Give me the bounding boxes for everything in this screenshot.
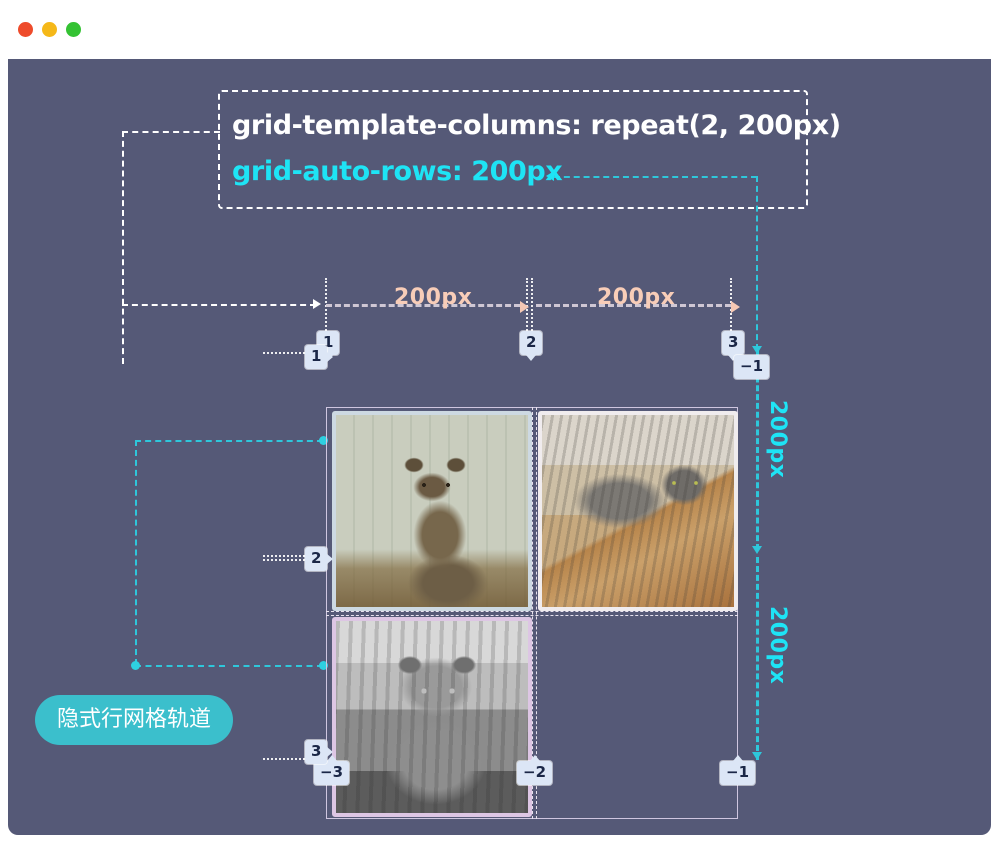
grid-line-badge-col-neg-3[interactable]: −3 [314,761,349,785]
grid-line-badge-col-2[interactable]: 2 [520,331,542,355]
grid-line-badge-row-neg-1[interactable]: −1 [734,355,769,379]
grid-line-badge-col-neg-2[interactable]: −2 [517,761,552,785]
grid-line-badge-col-neg-1[interactable]: −1 [720,761,755,785]
row-measure-2-arrow [752,752,762,760]
grid-line-badge-col-3[interactable]: 3 [722,331,744,355]
pill-connector-right [233,665,323,667]
column-measure-2-label: 200px [597,285,675,310]
connector-columns-bottom [122,304,316,306]
maximize-button[interactable] [66,22,81,37]
connector-columns-vertical [122,131,124,364]
css-code-callout: grid-template-columns: repeat(2, 200px) … [218,90,808,209]
connector-columns-arrowhead [313,299,321,309]
pill-connector-vertical [135,440,137,665]
connector-columns-top [122,131,220,133]
app-window: grid-template-columns: repeat(2, 200px) … [0,0,999,843]
pill-connector-top [135,440,323,442]
minimize-button[interactable] [42,22,57,37]
css-rule-grid-template-columns: grid-template-columns: repeat(2, 200px) [232,103,794,149]
cat-photo-3 [336,621,528,813]
grid-cell-empty [538,617,738,817]
grid-line-badge-row-2[interactable]: 2 [305,547,327,571]
row-measure-1 [756,350,759,550]
pill-anchor-dot-left [131,661,140,670]
grid-item-3[interactable] [332,617,532,817]
grid-track-line-row-2 [326,611,738,612]
css-rule-grid-auto-rows: grid-auto-rows: 200px [232,149,794,195]
row-measure-1-label: 200px [765,400,790,478]
illustration-canvas: grid-template-columns: repeat(2, 200px) … [8,59,991,835]
grid-item-2[interactable] [538,411,738,611]
row-measure-2 [756,557,759,760]
window-titlebar [0,0,999,59]
column-measure-1-label: 200px [394,285,472,310]
cat-photo-1 [336,415,528,607]
grid-track-line-row-2b [326,615,738,616]
grid-line-badge-row-1[interactable]: 1 [305,345,327,369]
grid-line-badge-row-3[interactable]: 3 [305,740,327,764]
row-measure-2-label: 200px [765,606,790,684]
cat-photo-2 [542,415,734,607]
close-button[interactable] [18,22,33,37]
implicit-row-track-label: 隐式行网格轨道 [35,695,233,745]
row-measure-1-arrow [752,546,762,554]
pill-connector-mid [135,665,225,667]
grid-item-1[interactable] [332,411,532,611]
